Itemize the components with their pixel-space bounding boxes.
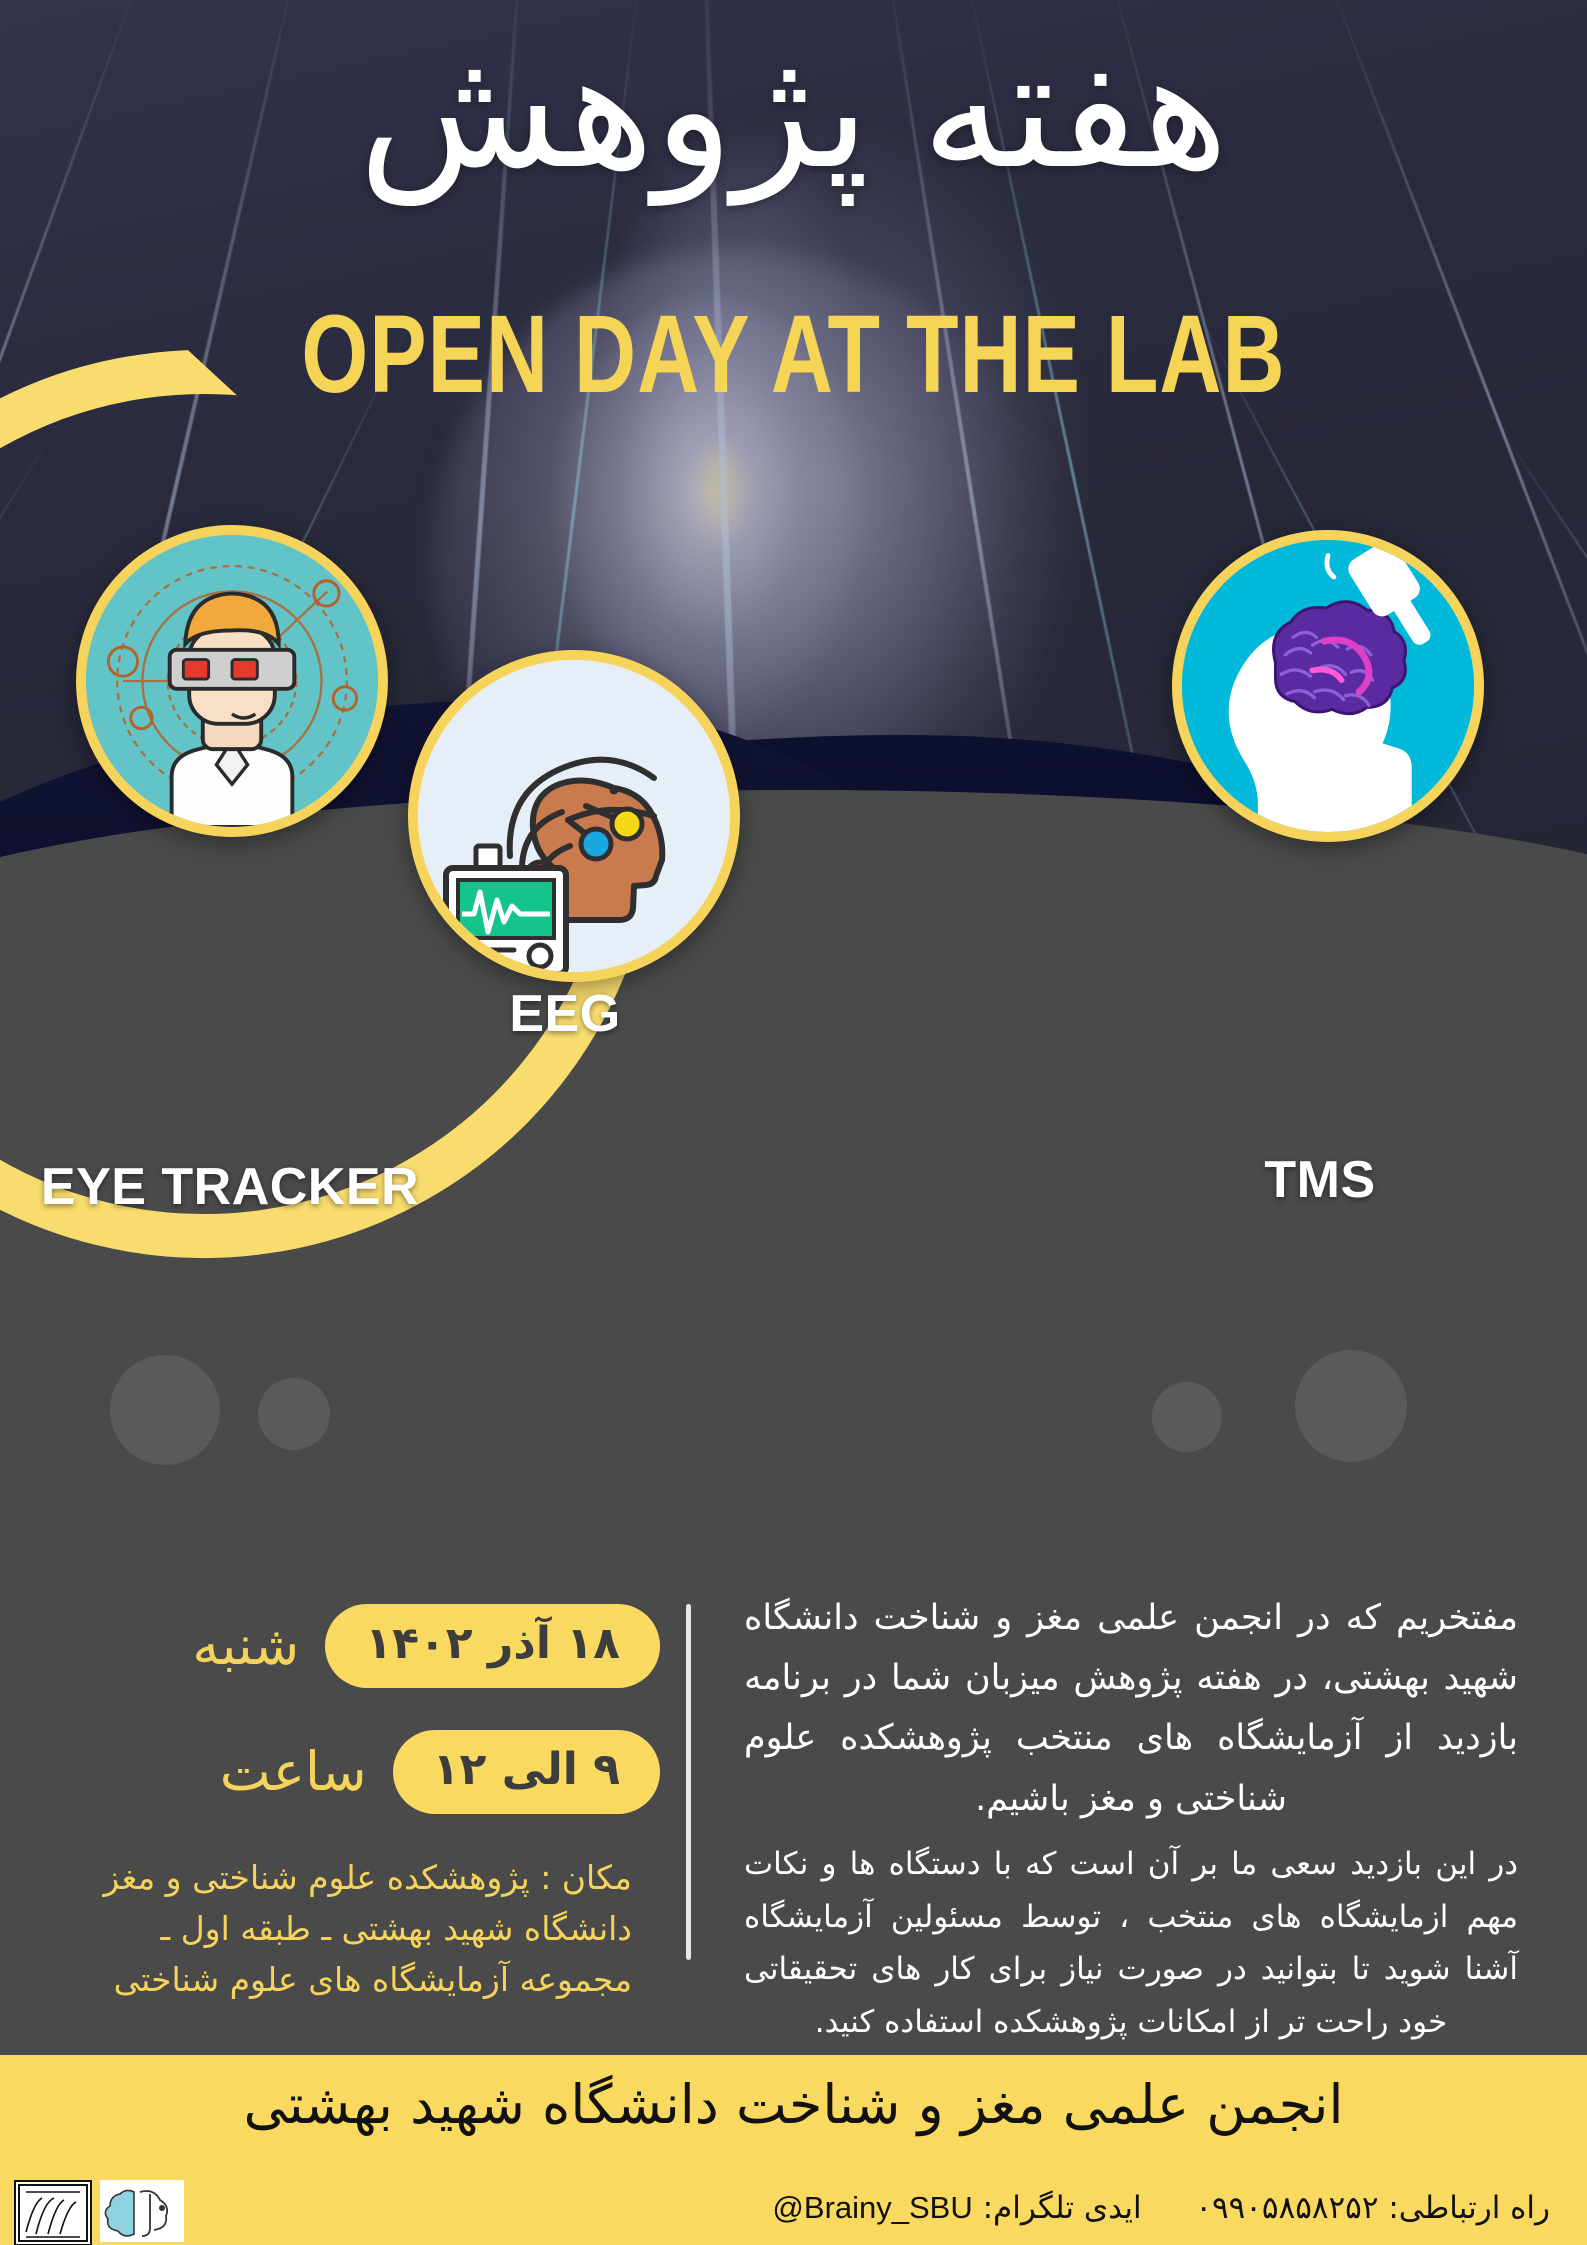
- time-pill: ۹ الی ۱۲: [393, 1730, 660, 1814]
- decorative-circle: [1152, 1382, 1222, 1452]
- eeg-icon: [418, 660, 730, 972]
- organization-name: انجمن علمی مغز و شناخت دانشگاه شهید بهشت…: [0, 2078, 1587, 2132]
- device-circle-eye-tracker[interactable]: [76, 525, 388, 837]
- page-title-persian: هفته پژوهش: [0, 28, 1587, 192]
- device-circle-eeg[interactable]: [408, 650, 740, 982]
- telegram-handle: @Brainy_SBU: [772, 2192, 972, 2223]
- time-label: ساعت: [220, 1745, 367, 1799]
- tms-icon: [1182, 540, 1474, 832]
- description-paragraph-2: در این بازدید سعی ما بر آن است که با دست…: [744, 1838, 1518, 2049]
- contact-phone: ۰۹۹۰۵۸۵۸۲۵۲: [1195, 2190, 1378, 2226]
- vertical-divider: [686, 1604, 691, 1960]
- schedule-row-time: ۹ الی ۱۲ ساعت: [80, 1730, 660, 1814]
- page-title-english: OPEN DAY AT THE LAB: [0, 300, 1587, 410]
- decorative-circle: [110, 1355, 220, 1465]
- device-label-tms: TMS: [1160, 1150, 1480, 1210]
- day-label: شنبه: [192, 1619, 299, 1673]
- contact-label: راه ارتباطی:: [1388, 2190, 1550, 2226]
- description-paragraph-1: مفتخریم که در انجمن علمی مغز و شناخت دان…: [744, 1588, 1518, 1829]
- contact-line: راه ارتباطی: ۰۹۹۰۵۸۵۸۲۵۲ ایدی تلگرام: @B…: [0, 2192, 1550, 2224]
- device-label-eye-tracker: EYE TRACKER: [20, 1157, 440, 1217]
- eye-tracker-icon: [86, 535, 378, 827]
- telegram-label: ایدی تلگرام:: [983, 2190, 1142, 2226]
- device-label-eeg: EEG: [410, 984, 720, 1044]
- date-pill: ۱۸ آذر ۱۴۰۲: [325, 1604, 660, 1688]
- schedule-row-day: ۱۸ آذر ۱۴۰۲ شنبه: [80, 1604, 660, 1688]
- decorative-circle: [1295, 1350, 1407, 1462]
- poster-root: هفته پژوهش OPEN DAY AT THE LAB: [0, 0, 1587, 2245]
- location-text: مکان : پژوهشکده علوم شناختی و مغز دانشگا…: [72, 1852, 632, 2005]
- decorative-circle: [258, 1378, 330, 1450]
- device-circle-tms[interactable]: [1172, 530, 1484, 842]
